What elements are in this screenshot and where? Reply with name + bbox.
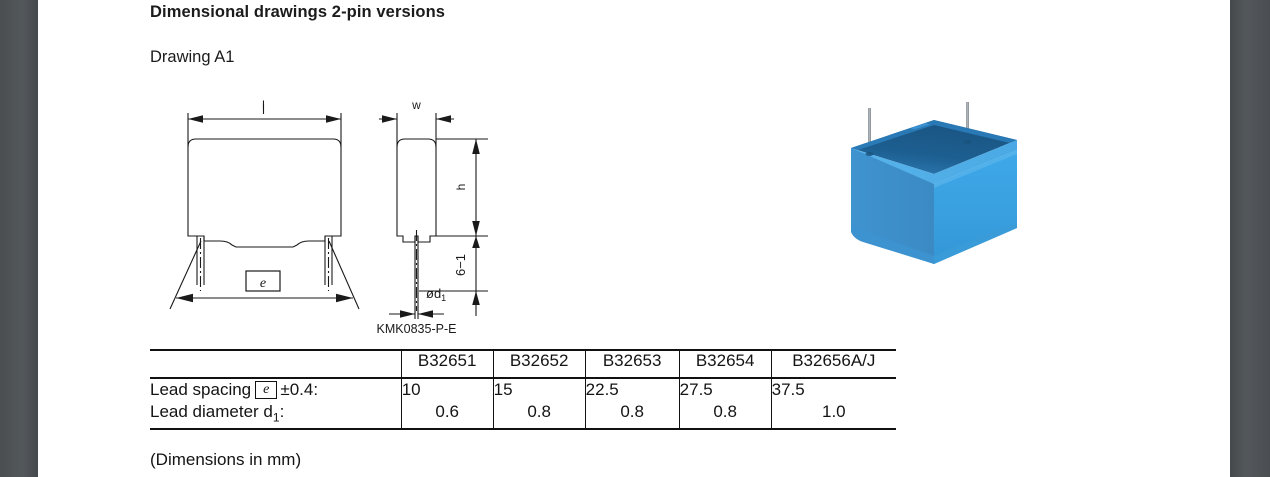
dimensional-drawing: l w e h 6−1 ød1 KMK0835-P-E xyxy=(143,95,503,340)
cell-lead-spacing-b32652: 15 xyxy=(493,378,585,401)
product-photo-svg xyxy=(818,96,1048,286)
dim-label-width: w xyxy=(411,98,421,112)
cell-lead-diameter-b32654: 0.8 xyxy=(679,401,771,429)
cell-lead-diameter-b32656aj: 1.0 xyxy=(771,401,896,429)
dim-label-height: h xyxy=(454,184,468,191)
table-header-row: B32651 B32652 B32653 B32654 B32656A/J xyxy=(150,351,896,378)
table-header-b32651: B32651 xyxy=(401,351,493,378)
dim-label-lead-diameter: ød1 xyxy=(426,286,446,303)
cell-lead-diameter-b32651: 0.6 xyxy=(401,401,493,429)
viewer-gutter-right xyxy=(1230,0,1270,477)
table-header-label-col xyxy=(150,351,401,378)
row-label-text-pre: Lead diameter d xyxy=(150,402,273,421)
row-label-text-post: ±0.4: xyxy=(280,380,318,399)
row-label-lead-spacing: Lead spacinge±0.4: xyxy=(150,378,401,401)
dim-label-length: l xyxy=(262,98,265,112)
cell-lead-spacing-b32656aj: 37.5 xyxy=(771,378,896,401)
drawing-code-caption: KMK0835-P-E xyxy=(377,322,457,336)
pdf-viewer: Dimensional drawings 2-pin versions Draw… xyxy=(0,0,1270,477)
cell-lead-diameter-b32652: 0.8 xyxy=(493,401,585,429)
table-header-b32652: B32652 xyxy=(493,351,585,378)
dim-label-lead-length: 6−1 xyxy=(453,254,468,276)
row-label-text-post: : xyxy=(280,402,285,421)
table-row: Lead diameter d1: 0.6 0.8 0.8 0.8 1.0 xyxy=(150,401,896,429)
table-header-b32654: B32654 xyxy=(679,351,771,378)
table-header-b32656aj: B32656A/J xyxy=(771,351,896,378)
table-caption: (Dimensions in mm) xyxy=(150,450,301,470)
table-header-b32653: B32653 xyxy=(585,351,679,378)
viewer-gutter-left xyxy=(0,0,38,477)
drawing-subtitle: Drawing A1 xyxy=(150,48,234,67)
row-label-lead-diameter: Lead diameter d1: xyxy=(150,401,401,429)
lead-spacing-e-symbol: e xyxy=(255,381,277,399)
pin-socket-right xyxy=(964,140,972,144)
row-label-text-pre: Lead spacing xyxy=(150,380,251,399)
dim-label-lead-spacing: e xyxy=(260,276,266,291)
cell-lead-spacing-b32654: 27.5 xyxy=(679,378,771,401)
cell-lead-spacing-b32653: 22.5 xyxy=(585,378,679,401)
lead-diameter-subscript: 1 xyxy=(273,410,280,424)
table-row: Lead spacinge±0.4: 10 15 22.5 27.5 37.5 xyxy=(150,378,896,401)
pin-socket-left xyxy=(866,152,874,156)
product-photo-3d xyxy=(818,96,1048,286)
specification-table: B32651 B32652 B32653 B32654 B32656A/J Le… xyxy=(150,349,896,430)
document-page: Dimensional drawings 2-pin versions Draw… xyxy=(38,0,1230,477)
cell-lead-spacing-b32651: 10 xyxy=(401,378,493,401)
page-title: Dimensional drawings 2-pin versions xyxy=(150,3,445,22)
cell-lead-diameter-b32653: 0.8 xyxy=(585,401,679,429)
drawing-svg: l w e h 6−1 ød1 KMK0835-P-E xyxy=(143,95,503,340)
